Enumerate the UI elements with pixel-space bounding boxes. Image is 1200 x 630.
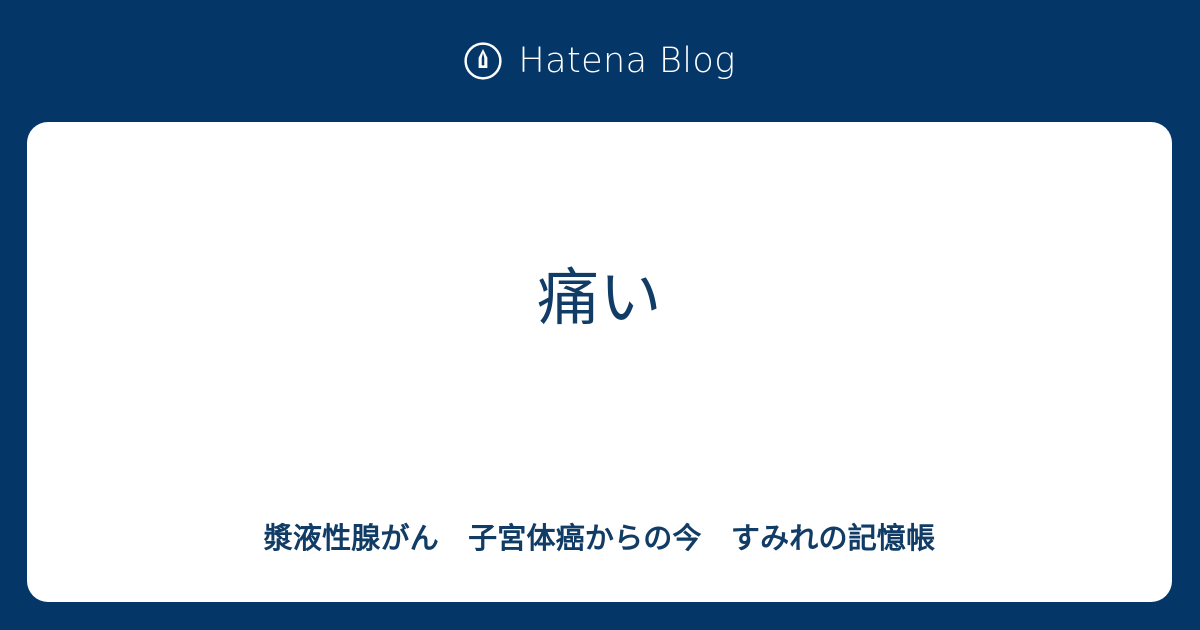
brand-header: Hatena Blog bbox=[0, 0, 1200, 122]
brand-name: Hatena Blog bbox=[518, 44, 735, 79]
blog-name-area: 漿液性腺がん 子宮体癌からの今 すみれの記憶帳 bbox=[27, 474, 1172, 602]
hatena-pen-nib-icon bbox=[464, 42, 502, 80]
entry-title: 痛い bbox=[537, 258, 662, 339]
blog-name: 漿液性腺がん 子宮体癌からの今 すみれの記憶帳 bbox=[264, 518, 936, 559]
entry-card: 痛い 漿液性腺がん 子宮体癌からの今 すみれの記憶帳 bbox=[27, 122, 1172, 602]
entry-title-area: 痛い bbox=[27, 122, 1172, 474]
